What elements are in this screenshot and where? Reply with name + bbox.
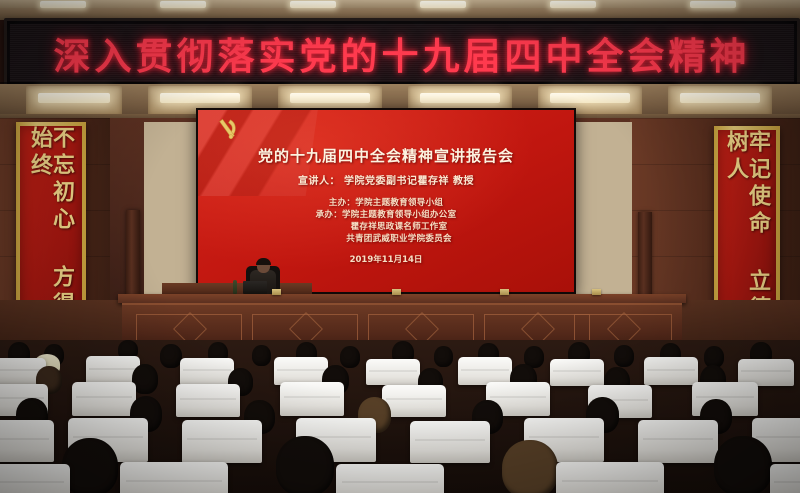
ceiling-coffer — [26, 86, 122, 116]
chair — [274, 357, 328, 385]
ceiling-lamp — [160, 1, 206, 8]
table-nameplate — [592, 289, 601, 295]
chair — [0, 420, 54, 462]
chair — [120, 462, 228, 493]
chair — [176, 384, 240, 417]
right-banner-face: 牢记使命 立德树人 — [718, 130, 776, 326]
chair — [0, 464, 70, 493]
audience-area — [0, 340, 800, 493]
chair — [638, 420, 718, 463]
attendee-head — [340, 346, 360, 368]
chair — [644, 357, 698, 385]
chair — [410, 421, 490, 463]
led-banner-screen: 深入贯彻落实党的十九届四中全会精神 — [10, 24, 794, 82]
attendee-head — [502, 440, 558, 493]
screen-title: 党的十九届四中全会精神宣讲报告会 — [198, 145, 574, 166]
attendee-head — [714, 436, 772, 493]
presenter-hair — [256, 258, 271, 265]
chair — [180, 358, 234, 385]
table-panel — [136, 314, 242, 342]
chair — [336, 464, 444, 493]
wall-stone-panel-right — [570, 122, 632, 322]
attendee-head — [276, 436, 334, 493]
led-banner-board: 深入贯彻落实党的十九届四中全会精神 — [4, 18, 800, 88]
hammer-and-sickle-icon — [212, 116, 242, 144]
chair — [280, 382, 344, 416]
attendee-head — [434, 346, 453, 367]
attendee-head — [62, 438, 118, 493]
right-banner-text: 牢记使命 立德树人 — [725, 130, 769, 326]
chair — [72, 382, 136, 416]
attendee-head — [252, 345, 271, 366]
organizer-line-coordinator: 承办：学院主题教育领导小组办公室 — [198, 209, 574, 221]
screen-organizers: 主办：学院主题教育领导小组 承办：学院主题教育领导小组办公室 瞿存祥思政课名师工… — [198, 197, 574, 245]
table-panel — [252, 314, 358, 342]
led-banner-text: 深入贯彻落实党的十九届四中全会精神 — [54, 26, 751, 80]
chair — [550, 359, 604, 386]
attendee-head — [160, 344, 182, 368]
head-table-top — [118, 294, 686, 303]
table-panel — [574, 314, 672, 342]
ceiling-lamp — [290, 1, 336, 8]
water-bottle — [233, 280, 237, 294]
chair — [366, 359, 420, 385]
organizer-line-studio: 瞿存祥思政课名师工作室 — [198, 221, 574, 233]
table-nameplate — [272, 289, 281, 295]
organizer-line-host: 主办：学院主题教育领导小组 — [198, 197, 574, 209]
organizer-line-youth-league: 共青团武威职业学院委员会 — [198, 233, 574, 245]
attendee-head — [614, 345, 634, 367]
chair — [382, 385, 446, 417]
auditorium-photo: 深入贯彻落实党的十九届四中全会精神 不忘初心 方得始终 牢记使命 立德树人 — [0, 0, 800, 493]
ceiling-lamp — [690, 1, 736, 8]
chair — [770, 464, 800, 493]
table-panel — [368, 314, 474, 342]
laptop — [243, 281, 267, 294]
presentation-screen: 党的十九届四中全会精神宣讲报告会 宣讲人： 学院党委副书记瞿存祥 教授 主办：学… — [198, 110, 574, 292]
screen-date: 2019年11月14日 — [198, 253, 574, 265]
ceiling-lamp — [550, 1, 596, 8]
table-nameplate — [500, 289, 509, 295]
screen-speaker-line: 宣讲人： 学院党委副书记瞿存祥 教授 — [198, 172, 574, 187]
chair — [458, 357, 512, 385]
ceiling-lamp — [420, 1, 466, 8]
table-nameplate — [392, 289, 401, 295]
ceiling-coffer — [668, 86, 772, 116]
chair — [182, 420, 262, 463]
ceiling-lamp — [40, 1, 86, 8]
chair — [556, 462, 664, 493]
ceiling-light-strip — [0, 0, 800, 8]
